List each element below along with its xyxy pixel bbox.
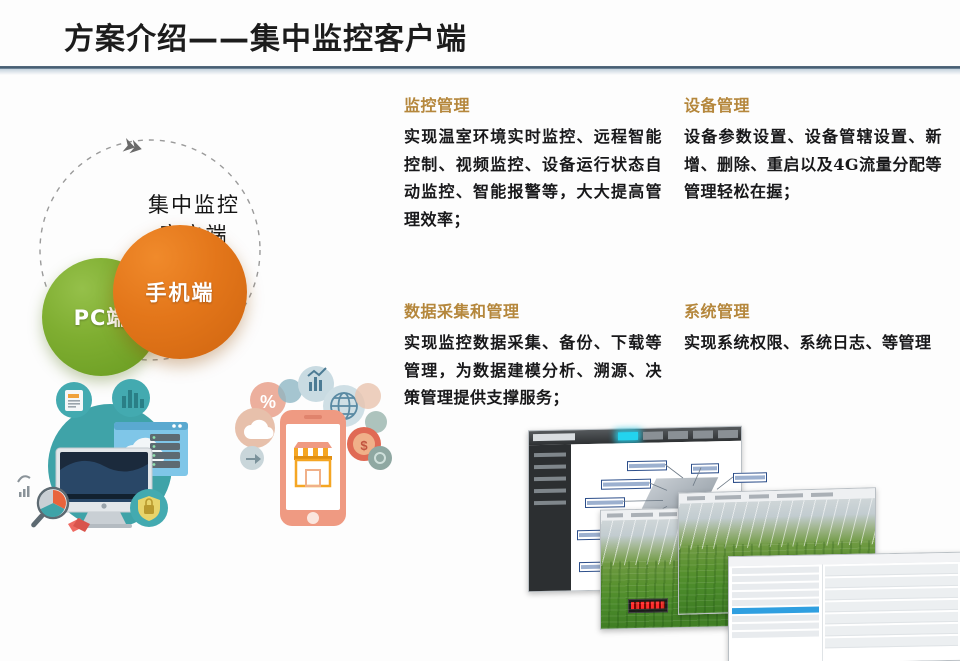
screenshot-stack	[528, 428, 960, 661]
dashboard-tabs	[618, 430, 738, 441]
block-data: 数据采集和管理 实现监控数据采集、备份、下载等管理，为数据建模分析、溯源、决策管…	[404, 298, 662, 412]
table-cell	[825, 612, 958, 625]
center-label-line1: 集中监控	[104, 190, 284, 220]
block-monitor-heading: 监控管理	[404, 92, 662, 116]
table-row[interactable]	[732, 575, 819, 583]
table-row[interactable]	[732, 591, 819, 599]
slide-header: 方案介绍——集中监控客户端	[0, 0, 960, 70]
dashboard-tab[interactable]	[718, 430, 738, 438]
dashboard-tab[interactable]	[668, 431, 688, 439]
table-row-selected[interactable]	[732, 607, 819, 615]
block-monitor: 监控管理 实现温室环境实时监控、远程智能控制、视频监控、设备运行状态自动监控、智…	[404, 92, 662, 233]
bubble-mobile[interactable]: 手机端	[113, 225, 247, 359]
smartphone-shop-illustration: % $	[228, 362, 398, 542]
led-display-icon	[628, 598, 668, 613]
page-title: 方案介绍——集中监控客户端	[64, 14, 467, 58]
slide-root: 方案介绍——集中监控客户端 集中监控 客户端 PC端 手机端	[0, 0, 960, 661]
table-left-pane	[729, 564, 823, 661]
table-row[interactable]	[732, 567, 819, 575]
table-cell	[825, 600, 958, 613]
table-right-pane	[822, 562, 960, 661]
desktop-computer-illustration	[10, 378, 200, 558]
sidebar-item[interactable]	[534, 488, 566, 493]
block-data-body: 实现监控数据采集、备份、下载等管理，为数据建模分析、溯源、决策管理提供支撑服务；	[404, 329, 662, 412]
table-row[interactable]	[732, 583, 819, 591]
block-device-heading: 设备管理	[684, 92, 942, 116]
table-row[interactable]	[732, 599, 819, 607]
smartphone-body	[280, 410, 346, 526]
sidebar-item[interactable]	[534, 452, 566, 457]
sidebar-item[interactable]	[534, 464, 566, 469]
shield-icon	[130, 489, 168, 527]
magnifier-icon	[30, 488, 68, 528]
table-row[interactable]	[732, 623, 819, 631]
data-table-window-screenshot[interactable]	[728, 552, 960, 661]
table-cell	[825, 564, 958, 577]
signal-icon	[18, 476, 30, 497]
table-cell	[825, 576, 958, 589]
table-row[interactable]	[732, 615, 819, 623]
dashboard-logo	[533, 433, 575, 441]
block-system-body: 实现系统权限、系统日志、等管理	[684, 329, 942, 357]
block-data-heading: 数据采集和管理	[404, 298, 662, 322]
table-cell	[825, 588, 958, 601]
sidebar-item[interactable]	[534, 500, 566, 505]
title-divider-shadow	[0, 69, 960, 75]
dashboard-tab-active[interactable]	[618, 432, 638, 440]
block-device: 设备管理 设备参数设置、设备管辖设置、新增、删除、重启以及4G流量分配等管理轻松…	[684, 92, 942, 206]
table-cell	[825, 624, 958, 637]
table-cell	[825, 636, 958, 649]
dashboard-tab[interactable]	[643, 431, 663, 439]
bubble-mobile-label: 手机端	[146, 277, 215, 307]
block-system: 系统管理 实现系统权限、系统日志、等管理	[684, 298, 942, 357]
sidebar-item[interactable]	[534, 476, 566, 481]
table-row[interactable]	[732, 631, 819, 639]
table-window-body	[729, 562, 960, 661]
dashboard-tab[interactable]	[693, 430, 713, 438]
svg-text:%: %	[260, 392, 276, 412]
block-monitor-body: 实现温室环境实时监控、远程智能控制、视频监控、设备运行状态自动监控、智能报警等，…	[404, 123, 662, 233]
svg-text:$: $	[360, 438, 368, 453]
block-system-heading: 系统管理	[684, 298, 942, 322]
block-device-body: 设备参数设置、设备管辖设置、新增、删除、重启以及4G流量分配等管理轻松在握；	[684, 123, 942, 206]
dashboard-sidebar	[529, 444, 571, 591]
document-icon	[65, 390, 83, 411]
